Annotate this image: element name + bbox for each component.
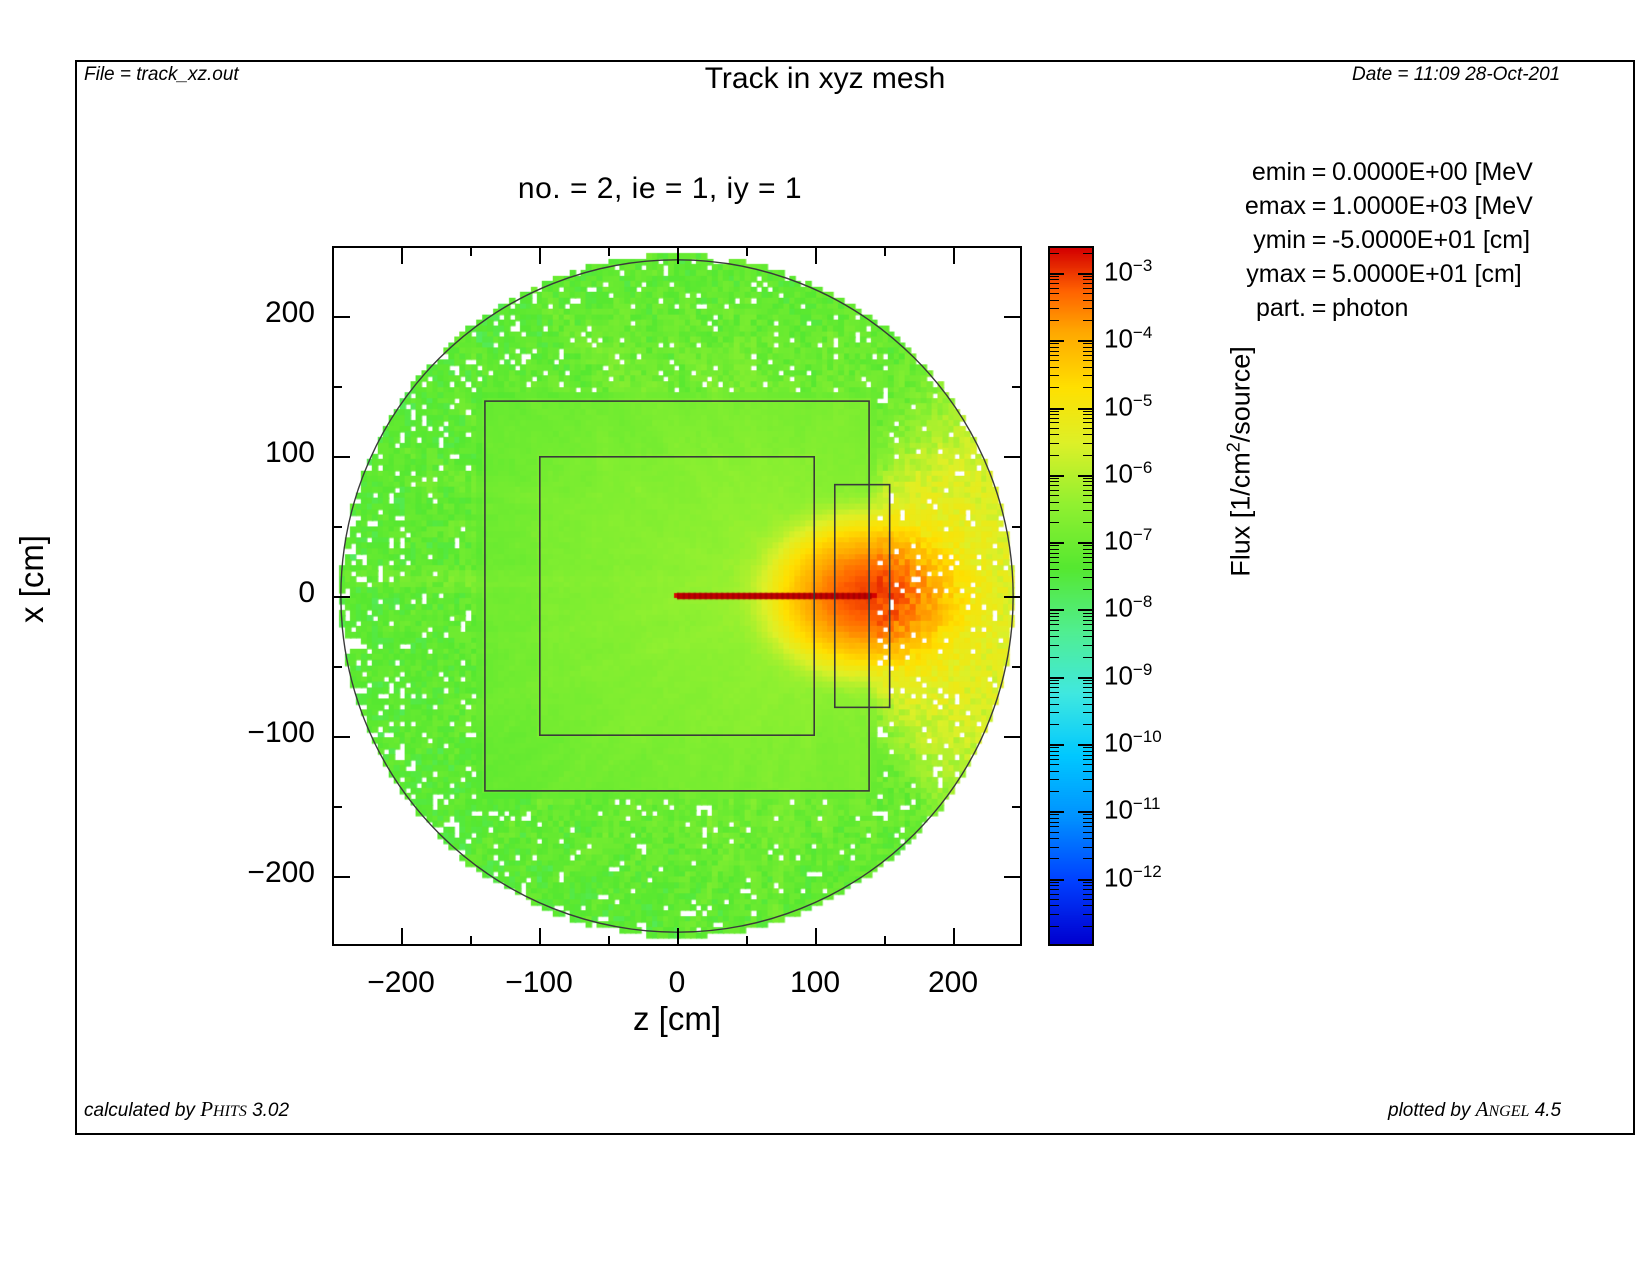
x-axis-tick [884, 936, 886, 946]
heatmap-plot [332, 246, 1022, 946]
colorbar-minor-tick [1048, 764, 1059, 765]
parameter-list: emin=0.0000E+00 [MeVemax=1.0000E+03 [MeV… [1232, 155, 1533, 325]
colorbar-minor-tick [1048, 522, 1059, 523]
colorbar-minor-tick [1083, 478, 1094, 479]
colorbar-minor-tick [1083, 645, 1094, 646]
colorbar-minor-tick [1048, 411, 1059, 412]
param-value: 5.0000E+01 [cm] [1332, 257, 1522, 291]
colorbar-minor-tick [1083, 889, 1094, 890]
colorbar-tick-base: 10 [1104, 862, 1133, 892]
colorbar-minor-tick [1083, 422, 1094, 423]
colorbar-minor-tick [1048, 557, 1059, 558]
calculated-version: 3.02 [247, 1100, 289, 1121]
colorbar-minor-tick [1083, 418, 1094, 419]
x-axis-tick [470, 246, 472, 256]
colorbar-major-tick [1078, 273, 1094, 275]
colorbar-minor-tick [1083, 589, 1094, 590]
colorbar-tick-exponent: −3 [1133, 256, 1152, 275]
y-axis-tick [332, 666, 342, 668]
colorbar-minor-tick [1048, 826, 1059, 827]
y-tick-label: 100 [265, 436, 315, 470]
calculated-by-label: calculated by PHITS 3.02 [84, 1097, 289, 1122]
colorbar-minor-tick [1048, 300, 1059, 301]
geometry-box-inner-core [540, 457, 814, 735]
colorbar-tick-exponent: −6 [1133, 458, 1152, 477]
colorbar-minor-tick [1048, 838, 1059, 839]
x-axis-tick [815, 928, 817, 946]
y-axis-tick [1012, 386, 1022, 388]
colorbar-major-tick [1048, 542, 1064, 544]
colorbar-minor-tick [1083, 616, 1094, 617]
colorbar-minor-tick [1083, 697, 1094, 698]
colorbar-minor-tick [1048, 253, 1059, 254]
colorbar-minor-tick [1083, 367, 1094, 368]
colorbar-minor-tick [1048, 375, 1059, 376]
colorbar-minor-tick [1083, 485, 1094, 486]
y-axis-tick [332, 596, 350, 598]
x-tick-label: 0 [607, 966, 747, 1000]
colorbar-major-tick [1078, 744, 1094, 746]
colorbar-tick-label: 10−11 [1104, 794, 1161, 826]
colorbar-tick-exponent: −8 [1133, 592, 1152, 611]
plot-subtitle: no. = 2, ie = 1, iy = 1 [250, 172, 1070, 206]
y-tick-label: −100 [247, 716, 315, 750]
param-row: ymax=5.0000E+01 [cm] [1232, 257, 1533, 291]
colorbar-minor-tick [1083, 495, 1094, 496]
colorbar-tick-base: 10 [1104, 257, 1133, 287]
colorbar-tick-base: 10 [1104, 391, 1133, 421]
y-axis-tick [1004, 456, 1022, 458]
colorbar-title: Flux [1/cm2/source] [1224, 312, 1257, 612]
world-boundary-circle [341, 260, 1013, 932]
colorbar-minor-tick [1083, 692, 1094, 693]
x-axis-tick [746, 246, 748, 256]
colorbar-tick-label: 10−10 [1104, 727, 1162, 759]
colorbar-minor-tick [1048, 293, 1059, 294]
x-axis-tick [539, 928, 541, 946]
colorbar-minor-tick [1083, 253, 1094, 254]
colorbar-tick-label: 10−3 [1104, 256, 1152, 288]
colorbar-minor-tick [1048, 367, 1059, 368]
colorbar-tick-exponent: −5 [1133, 391, 1152, 410]
colorbar-tick-exponent: −7 [1133, 525, 1152, 544]
colorbar-minor-tick [1083, 283, 1094, 284]
colorbar-minor-tick [1048, 481, 1059, 482]
colorbar-minor-tick [1048, 630, 1059, 631]
colorbar-minor-tick [1083, 724, 1094, 725]
colorbar-minor-tick [1048, 791, 1059, 792]
colorbar-tick-base: 10 [1104, 526, 1133, 556]
colorbar-major-tick [1078, 811, 1094, 813]
colorbar-minor-tick [1083, 687, 1094, 688]
y-axis-tick [1012, 526, 1022, 528]
colorbar-ticks [1048, 246, 1094, 946]
colorbar-minor-tick [1048, 889, 1059, 890]
colorbar-minor-tick [1048, 759, 1059, 760]
colorbar-minor-tick [1048, 288, 1059, 289]
y-axis-tick [332, 386, 342, 388]
param-value: -5.0000E+01 [cm] [1332, 223, 1530, 257]
y-axis-tick [332, 806, 342, 808]
y-tick-label: 0 [298, 576, 315, 610]
colorbar-minor-tick [1083, 818, 1094, 819]
colorbar-minor-tick [1083, 455, 1094, 456]
colorbar-minor-tick [1083, 914, 1094, 915]
colorbar-minor-tick [1048, 347, 1059, 348]
colorbar-tick-label: 10−7 [1104, 525, 1152, 557]
x-axis-tick [815, 246, 817, 264]
colorbar-minor-tick [1048, 418, 1059, 419]
colorbar-minor-tick [1048, 847, 1059, 848]
colorbar-minor-tick [1083, 387, 1094, 388]
colorbar-minor-tick [1048, 616, 1059, 617]
x-axis-tick [677, 246, 679, 264]
colorbar-minor-tick [1083, 755, 1094, 756]
plotted-version: 4.5 [1529, 1100, 1561, 1121]
colorbar-minor-tick [1048, 569, 1059, 570]
colorbar-minor-tick [1083, 847, 1094, 848]
colorbar-minor-tick [1048, 814, 1059, 815]
colorbar-minor-tick [1048, 562, 1059, 563]
colorbar-minor-tick [1083, 545, 1094, 546]
colorbar-tick-label: 10−6 [1104, 458, 1152, 490]
colorbar-minor-tick [1083, 826, 1094, 827]
colorbar-minor-tick [1048, 751, 1059, 752]
colorbar-minor-tick [1048, 894, 1059, 895]
x-axis-tick [884, 246, 886, 256]
y-axis-tick [1012, 806, 1022, 808]
colorbar-tick-exponent: −9 [1133, 660, 1152, 679]
colorbar-minor-tick [1048, 657, 1059, 658]
colorbar-minor-tick [1083, 279, 1094, 280]
colorbar-minor-tick [1083, 569, 1094, 570]
page-title: Track in xyz mesh [0, 62, 1650, 96]
colorbar-minor-tick [1083, 562, 1094, 563]
y-axis-tick [332, 526, 342, 528]
colorbar-tick-base: 10 [1104, 728, 1133, 758]
colorbar-minor-tick [1083, 414, 1094, 415]
colorbar-major-tick [1048, 340, 1064, 342]
x-axis-tick [608, 936, 610, 946]
colorbar-minor-tick [1048, 771, 1059, 772]
colorbar-minor-tick [1048, 747, 1059, 748]
x-axis-tick [401, 928, 403, 946]
colorbar-title-pre: Flux [1/cm [1226, 452, 1256, 577]
colorbar-minor-tick [1048, 276, 1059, 277]
colorbar-minor-tick [1048, 680, 1059, 681]
colorbar-minor-tick [1048, 926, 1059, 927]
colorbar-minor-tick [1048, 683, 1059, 684]
param-value: 0.0000E+00 [MeV [1332, 155, 1533, 189]
colorbar-minor-tick [1048, 283, 1059, 284]
colorbar-minor-tick [1083, 577, 1094, 578]
colorbar-minor-tick [1083, 308, 1094, 309]
colorbar-minor-tick [1083, 624, 1094, 625]
colorbar-major-tick [1048, 609, 1064, 611]
colorbar-tick-label: 10−5 [1104, 391, 1152, 423]
colorbar-minor-tick [1083, 613, 1094, 614]
param-name: ymax [1232, 257, 1306, 291]
colorbar-minor-tick [1083, 899, 1094, 900]
colorbar-minor-tick [1048, 279, 1059, 280]
colorbar-minor-tick [1048, 387, 1059, 388]
colorbar-minor-tick [1048, 414, 1059, 415]
colorbar-tick-exponent: −4 [1133, 323, 1152, 342]
param-equals: = [1306, 189, 1332, 223]
colorbar-minor-tick [1048, 697, 1059, 698]
x-tick-label: 100 [745, 966, 885, 1000]
colorbar-minor-tick [1048, 502, 1059, 503]
colorbar-minor-tick [1048, 549, 1059, 550]
colorbar-minor-tick [1048, 858, 1059, 859]
colorbar-major-tick [1078, 542, 1094, 544]
colorbar-major-tick [1078, 475, 1094, 477]
colorbar-minor-tick [1048, 443, 1059, 444]
y-axis-tick [332, 876, 350, 878]
colorbar-minor-tick [1083, 320, 1094, 321]
colorbar-minor-tick [1083, 882, 1094, 883]
colorbar-minor-tick [1048, 914, 1059, 915]
colorbar-tick-base: 10 [1104, 593, 1133, 623]
colorbar-minor-tick [1048, 360, 1059, 361]
colorbar-minor-tick [1083, 926, 1094, 927]
colorbar-minor-tick [1048, 478, 1059, 479]
colorbar-minor-tick [1048, 355, 1059, 356]
code-name: PHITS [200, 1100, 247, 1121]
colorbar-minor-tick [1083, 549, 1094, 550]
colorbar-minor-tick [1083, 434, 1094, 435]
colorbar-minor-tick [1083, 838, 1094, 839]
colorbar-minor-tick [1083, 791, 1094, 792]
colorbar-minor-tick [1083, 355, 1094, 356]
colorbar-minor-tick [1083, 905, 1094, 906]
colorbar-minor-tick [1048, 620, 1059, 621]
colorbar-minor-tick [1083, 858, 1094, 859]
param-equals: = [1306, 155, 1332, 189]
colorbar-minor-tick [1083, 885, 1094, 886]
colorbar-major-tick [1048, 475, 1064, 477]
colorbar-minor-tick [1083, 293, 1094, 294]
colorbar-minor-tick [1083, 630, 1094, 631]
colorbar-tick-exponent: −12 [1133, 862, 1162, 881]
colorbar-minor-tick [1048, 704, 1059, 705]
colorbar-minor-tick [1048, 490, 1059, 491]
x-axis-tick [539, 246, 541, 264]
colorbar-minor-tick [1048, 755, 1059, 756]
calculated-prefix: calculated by [84, 1100, 200, 1121]
y-axis-tick [332, 736, 350, 738]
colorbar-minor-tick [1083, 351, 1094, 352]
geometry-box-outer-shield [485, 401, 869, 791]
plotted-by-label: plotted by ANGEL 4.5 [1388, 1097, 1561, 1122]
colorbar-minor-tick [1048, 545, 1059, 546]
colorbar-minor-tick [1048, 351, 1059, 352]
colorbar-minor-tick [1083, 428, 1094, 429]
colorbar-tick-labels: 10−310−410−510−610−710−810−910−1010−1110… [1104, 246, 1194, 946]
colorbar-minor-tick [1083, 522, 1094, 523]
colorbar-minor-tick [1083, 502, 1094, 503]
colorbar-minor-tick [1083, 553, 1094, 554]
colorbar-minor-tick [1048, 779, 1059, 780]
x-axis-tick [608, 246, 610, 256]
y-tick-label: −200 [247, 856, 315, 890]
colorbar-tick-label: 10−9 [1104, 660, 1152, 692]
colorbar-minor-tick [1083, 490, 1094, 491]
y-axis-tick [1004, 596, 1022, 598]
geometry-overlay [334, 248, 1020, 944]
colorbar-minor-tick [1048, 455, 1059, 456]
colorbar-minor-tick [1048, 589, 1059, 590]
colorbar-minor-tick [1083, 347, 1094, 348]
x-tick-label: −100 [469, 966, 609, 1000]
x-tick-label: 200 [883, 966, 1023, 1000]
colorbar-minor-tick [1083, 751, 1094, 752]
colorbar-major-tick [1078, 609, 1094, 611]
colorbar-major-tick [1048, 408, 1064, 410]
colorbar-minor-tick [1083, 771, 1094, 772]
colorbar-minor-tick [1083, 481, 1094, 482]
colorbar-minor-tick [1083, 657, 1094, 658]
colorbar-minor-tick [1083, 411, 1094, 412]
x-axis-tick [953, 928, 955, 946]
colorbar-tick-base: 10 [1104, 324, 1133, 354]
colorbar-minor-tick [1083, 680, 1094, 681]
colorbar-major-tick [1078, 408, 1094, 410]
param-name: emin [1232, 155, 1306, 189]
colorbar-minor-tick [1048, 818, 1059, 819]
colorbar-minor-tick [1083, 360, 1094, 361]
colorbar-minor-tick [1083, 832, 1094, 833]
y-axis-tick [1012, 666, 1022, 668]
x-axis-title: z [cm] [332, 1000, 1022, 1038]
colorbar-minor-tick [1048, 434, 1059, 435]
colorbar-minor-tick [1048, 308, 1059, 309]
colorbar-minor-tick [1083, 704, 1094, 705]
colorbar-minor-tick [1048, 636, 1059, 637]
colorbar-major-tick [1078, 677, 1094, 679]
param-equals: = [1306, 223, 1332, 257]
colorbar-minor-tick [1083, 343, 1094, 344]
colorbar-major-tick [1048, 879, 1064, 881]
colorbar-minor-tick [1048, 822, 1059, 823]
colorbar-minor-tick [1048, 712, 1059, 713]
colorbar-minor-tick [1083, 894, 1094, 895]
y-tick-label: 200 [265, 296, 315, 330]
colorbar-minor-tick [1083, 683, 1094, 684]
x-axis-tick [953, 246, 955, 264]
plot-page: File = track_xz.out Date = 11:09 28-Oct-… [0, 0, 1650, 1275]
y-axis-tick [332, 316, 350, 318]
colorbar-minor-tick [1083, 814, 1094, 815]
y-axis-tick [1004, 316, 1022, 318]
param-row: ymin=-5.0000E+01 [cm] [1232, 223, 1533, 257]
colorbar-tick-exponent: −10 [1133, 727, 1162, 746]
colorbar-minor-tick [1048, 422, 1059, 423]
colorbar-major-tick [1048, 811, 1064, 813]
colorbar-minor-tick [1048, 553, 1059, 554]
colorbar-minor-tick [1083, 443, 1094, 444]
colorbar-minor-tick [1083, 375, 1094, 376]
y-axis-tick [332, 456, 350, 458]
colorbar-minor-tick [1048, 428, 1059, 429]
colorbar-minor-tick [1048, 624, 1059, 625]
colorbar-minor-tick [1083, 300, 1094, 301]
colorbar-tick-label: 10−4 [1104, 323, 1152, 355]
colorbar-minor-tick [1083, 759, 1094, 760]
param-row: part.=photon [1232, 291, 1533, 325]
colorbar-major-tick [1048, 744, 1064, 746]
colorbar-minor-tick [1048, 510, 1059, 511]
colorbar-minor-tick [1048, 692, 1059, 693]
colorbar-tick-base: 10 [1104, 459, 1133, 489]
colorbar-minor-tick [1048, 343, 1059, 344]
param-equals: = [1306, 257, 1332, 291]
colorbar-major-tick [1048, 273, 1064, 275]
geometry-box-detector [835, 485, 890, 708]
code-name: ANGEL [1476, 1100, 1530, 1121]
colorbar-minor-tick [1048, 885, 1059, 886]
colorbar-minor-tick [1048, 485, 1059, 486]
colorbar-minor-tick [1048, 899, 1059, 900]
colorbar-minor-tick [1048, 724, 1059, 725]
colorbar-minor-tick [1083, 764, 1094, 765]
colorbar-minor-tick [1083, 276, 1094, 277]
y-axis-tick [1004, 876, 1022, 878]
colorbar-minor-tick [1048, 687, 1059, 688]
colorbar-minor-tick [1083, 779, 1094, 780]
colorbar-minor-tick [1048, 613, 1059, 614]
colorbar-minor-tick [1083, 822, 1094, 823]
colorbar-minor-tick [1048, 320, 1059, 321]
param-name: emax [1232, 189, 1306, 223]
colorbar-minor-tick [1048, 832, 1059, 833]
y-axis-title: x [cm] [13, 429, 51, 729]
param-equals: = [1306, 291, 1332, 325]
x-axis-tick [677, 928, 679, 946]
colorbar-minor-tick [1083, 712, 1094, 713]
colorbar-title-superscript: 2 [1224, 442, 1244, 452]
colorbar-minor-tick [1083, 510, 1094, 511]
colorbar-minor-tick [1048, 905, 1059, 906]
colorbar-minor-tick [1083, 288, 1094, 289]
plotted-prefix: plotted by [1388, 1100, 1476, 1121]
y-axis-tick [1004, 736, 1022, 738]
x-tick-label: −200 [331, 966, 471, 1000]
colorbar-minor-tick [1048, 882, 1059, 883]
x-axis-tick [470, 936, 472, 946]
y-tick-labels: 2001000−100−200 [170, 246, 315, 946]
colorbar-minor-tick [1048, 577, 1059, 578]
colorbar-minor-tick [1083, 557, 1094, 558]
colorbar-tick-label: 10−12 [1104, 862, 1162, 894]
colorbar-minor-tick [1083, 747, 1094, 748]
x-axis-tick [746, 936, 748, 946]
param-row: emin=0.0000E+00 [MeV [1232, 155, 1533, 189]
colorbar-tick-base: 10 [1104, 795, 1133, 825]
colorbar-major-tick [1078, 879, 1094, 881]
param-name: ymin [1232, 223, 1306, 257]
colorbar-minor-tick [1048, 495, 1059, 496]
x-axis-tick [401, 246, 403, 264]
colorbar-tick-base: 10 [1104, 660, 1133, 690]
colorbar-tick-label: 10−8 [1104, 592, 1152, 624]
param-value: photon [1332, 291, 1408, 325]
colorbar-title-post: /source] [1226, 346, 1256, 442]
colorbar-tick-exponent: −11 [1133, 794, 1161, 813]
param-value: 1.0000E+03 [MeV [1332, 189, 1533, 223]
param-row: emax=1.0000E+03 [MeV [1232, 189, 1533, 223]
colorbar-minor-tick [1083, 620, 1094, 621]
